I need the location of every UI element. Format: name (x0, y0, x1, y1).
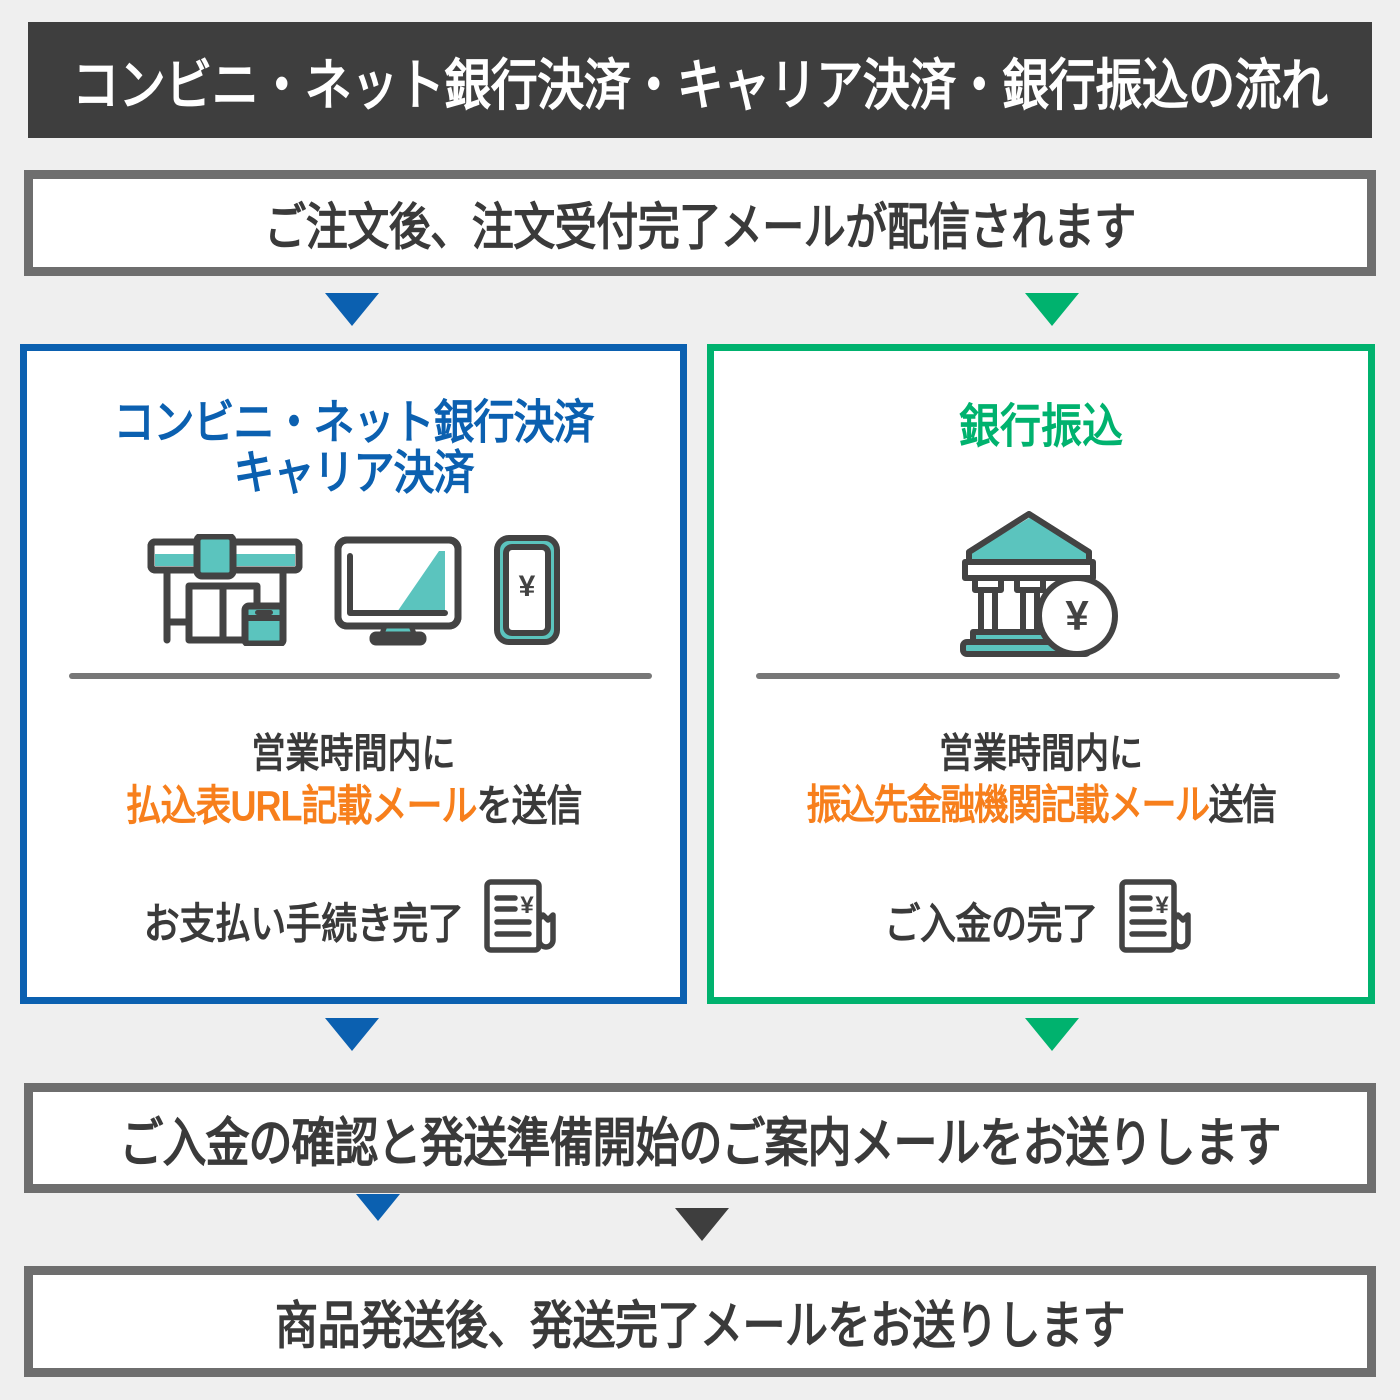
step-payment-confirmation-box: ご入金の確認と発送準備開始のご案内メールをお送りします (24, 1083, 1376, 1193)
bank-transfer-panel: 銀行振込 (707, 344, 1375, 1004)
svg-text:¥: ¥ (521, 892, 535, 919)
step-order-confirmation-text: ご注文後、注文受付完了メールが配信されます (264, 186, 1136, 259)
smartphone-yen-icon: ¥ (491, 534, 563, 651)
convenience-notice-suffix: を送信 (476, 781, 581, 829)
convenience-title-line2: キャリア決済 (27, 448, 680, 499)
bank-notice-suffix: 送信 (1209, 783, 1276, 829)
step-order-confirmation-box: ご注文後、注文受付完了メールが配信されます (24, 170, 1376, 276)
svg-text:¥: ¥ (1065, 592, 1089, 639)
convenience-payment-panel: コンビニ・ネット銀行決済 キャリア決済 (20, 344, 687, 1004)
convenience-panel-divider (69, 673, 652, 679)
payment-flow-diagram: コンビニ・ネット銀行決済・キャリア決済・銀行振込の流れ ご注文後、注文受付完了メ… (0, 0, 1400, 1400)
bank-panel-title: 銀行振込 (714, 401, 1368, 452)
diagram-title-bar: コンビニ・ネット銀行決済・キャリア決済・銀行振込の流れ (28, 22, 1372, 138)
bank-result-text: ご入金の完了 (884, 890, 1097, 951)
step-payment-confirmation-text: ご入金の確認と発送準備開始のご案内メールをお送りします (120, 1100, 1281, 1177)
convenience-result-text: お支払い手続き完了 (144, 890, 464, 951)
convenience-panel-title: コンビニ・ネット銀行決済 キャリア決済 (27, 397, 680, 499)
bank-notice-highlight: 振込先金融機関記載メール (806, 783, 1208, 829)
arrow-down-from-bank-icon (1025, 1018, 1079, 1051)
arrow-down-to-convenience-icon (325, 293, 379, 326)
bank-icon-row: ¥ (714, 506, 1368, 666)
convenience-notice-line1: 営業時間内に (27, 721, 680, 779)
bank-title-line1: 銀行振込 (714, 401, 1368, 452)
invoice-yen-icon: ¥ (479, 876, 563, 965)
arrow-down-convenience-result-icon (356, 1194, 400, 1221)
bank-notice-line2: 振込先金融機関記載メール送信 (714, 772, 1368, 832)
diagram-title: コンビニ・ネット銀行決済・キャリア決済・銀行振込の流れ (72, 39, 1328, 120)
convenience-result-row: お支払い手続き完了 ¥ (27, 876, 680, 965)
convenience-notice-highlight: 払込表URL記載メール (125, 781, 476, 829)
desktop-monitor-icon (333, 534, 463, 651)
step-shipping-notification-box: 商品発送後、発送完了メールをお送りします (24, 1266, 1376, 1377)
convenience-title-line1: コンビニ・ネット銀行決済 (27, 397, 680, 448)
bank-result-row: ご入金の完了 ¥ (714, 876, 1368, 965)
svg-text:¥: ¥ (1155, 892, 1169, 919)
convenience-store-icon (145, 534, 305, 651)
bank-notice-line1: 営業時間内に (714, 721, 1368, 779)
arrow-down-to-shipping-icon (675, 1208, 729, 1241)
bank-yen-icon: ¥ (951, 506, 1131, 666)
arrow-down-from-convenience-icon (325, 1018, 379, 1051)
convenience-icon-row: ¥ (27, 534, 680, 651)
arrow-down-to-bank-icon (1025, 293, 1079, 326)
svg-text:¥: ¥ (518, 570, 535, 603)
bank-panel-divider (756, 673, 1340, 679)
step-shipping-notification-text: 商品発送後、発送完了メールをお送りします (275, 1284, 1125, 1358)
convenience-notice-line2: 払込表URL記載メールを送信 (27, 772, 680, 833)
invoice-yen-icon: ¥ (1114, 876, 1198, 965)
